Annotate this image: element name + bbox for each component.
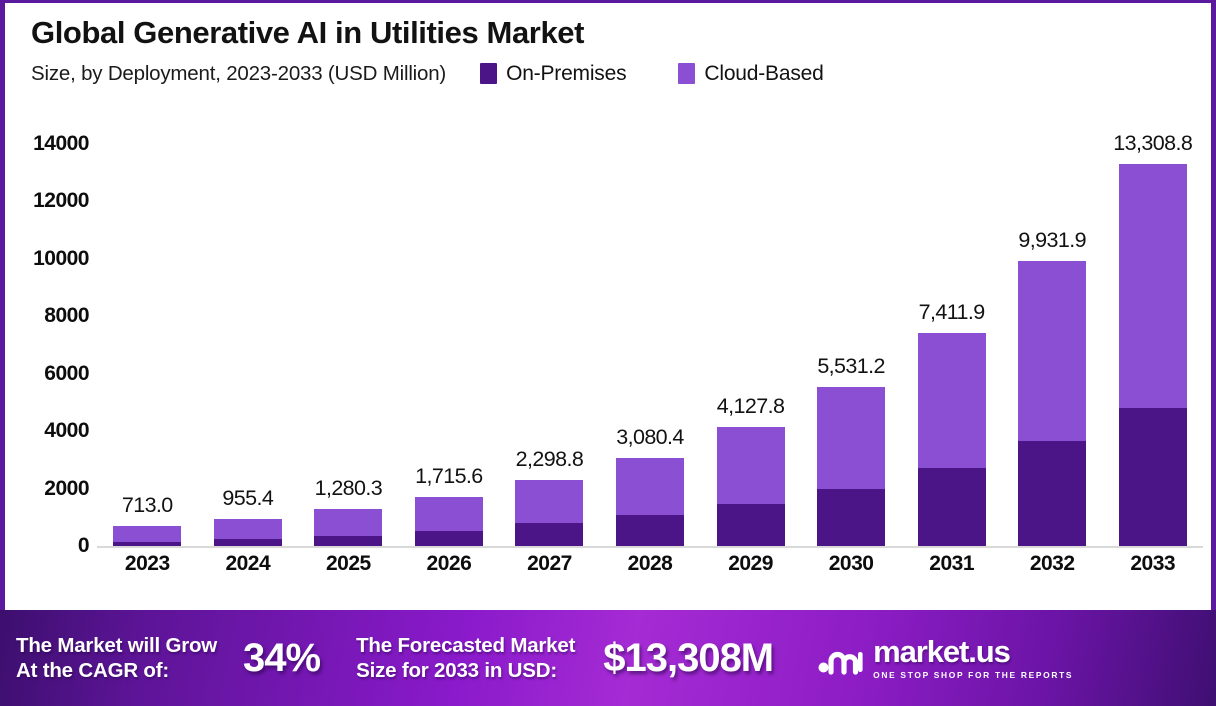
bar-stack[interactable]: 4,127.8 bbox=[717, 427, 785, 546]
bar-segment-cloud-based[interactable] bbox=[113, 526, 181, 542]
bar-column[interactable]: 955.4 bbox=[198, 108, 299, 546]
x-axis-baseline bbox=[97, 546, 1203, 548]
forecast-caption: The Forecasted Market Size for 2033 in U… bbox=[356, 633, 575, 683]
bar-segment-on-premises[interactable] bbox=[314, 536, 382, 546]
legend-item-cloud-based[interactable]: Cloud-Based bbox=[678, 62, 823, 86]
bar-segment-cloud-based[interactable] bbox=[415, 497, 483, 531]
forecast-block: The Forecasted Market Size for 2033 in U… bbox=[356, 633, 773, 683]
bar-segment-cloud-based[interactable] bbox=[214, 519, 282, 540]
y-axis-tick-label: 12000 bbox=[33, 189, 89, 213]
bar-stack[interactable]: 7,411.9 bbox=[918, 333, 986, 546]
cagr-caption-line2: At the CAGR of: bbox=[16, 658, 217, 683]
bar-segment-on-premises[interactable] bbox=[1018, 441, 1086, 546]
legend-label-cloud-based: Cloud-Based bbox=[704, 62, 823, 86]
bar-segment-cloud-based[interactable] bbox=[1018, 261, 1086, 442]
x-axis-tick-label: 2033 bbox=[1102, 552, 1203, 592]
bar-stack[interactable]: 13,308.8 bbox=[1119, 164, 1187, 546]
cagr-caption: The Market will Grow At the CAGR of: bbox=[16, 633, 217, 683]
bar-total-label: 1,715.6 bbox=[415, 464, 483, 489]
bar-segment-cloud-based[interactable] bbox=[314, 509, 382, 535]
bar-segment-on-premises[interactable] bbox=[918, 468, 986, 546]
bar-segment-on-premises[interactable] bbox=[214, 539, 282, 546]
bar-column[interactable]: 2,298.8 bbox=[499, 108, 600, 546]
bar-total-label: 13,308.8 bbox=[1113, 131, 1192, 156]
market-us-logo[interactable]: market.us ONE STOP SHOP FOR THE REPORTS bbox=[817, 636, 1073, 680]
legend-item-on-premises[interactable]: On-Premises bbox=[480, 62, 626, 86]
cagr-value: 34% bbox=[243, 636, 320, 681]
bar-series-group: 713.0955.41,280.31,715.62,298.83,080.44,… bbox=[97, 108, 1203, 546]
forecast-value: $13,308M bbox=[603, 636, 773, 681]
bar-total-label: 713.0 bbox=[122, 493, 173, 518]
legend-swatch-icon bbox=[480, 63, 497, 84]
bar-segment-on-premises[interactable] bbox=[717, 504, 785, 546]
bar-total-label: 955.4 bbox=[222, 486, 273, 511]
subtitle-legend-row: Size, by Deployment, 2023-2033 (USD Mill… bbox=[31, 59, 1211, 89]
cagr-block: The Market will Grow At the CAGR of: 34% bbox=[16, 633, 320, 683]
bar-total-label: 4,127.8 bbox=[717, 394, 785, 419]
bar-stack[interactable]: 2,298.8 bbox=[515, 480, 583, 546]
bar-stack[interactable]: 1,280.3 bbox=[314, 509, 382, 546]
bar-total-label: 2,298.8 bbox=[516, 447, 584, 472]
bar-segment-on-premises[interactable] bbox=[616, 515, 684, 546]
bar-segment-cloud-based[interactable] bbox=[717, 427, 785, 504]
page-title: Global Generative AI in Utilities Market bbox=[31, 15, 1211, 51]
bar-segment-on-premises[interactable] bbox=[415, 531, 483, 546]
bar-column[interactable]: 13,308.8 bbox=[1102, 108, 1203, 546]
bar-column[interactable]: 713.0 bbox=[97, 108, 198, 546]
bar-segment-cloud-based[interactable] bbox=[515, 480, 583, 523]
x-axis-tick-label: 2032 bbox=[1002, 552, 1103, 592]
forecast-caption-line1: The Forecasted Market bbox=[356, 633, 575, 658]
y-axis-tick-label: 8000 bbox=[44, 304, 89, 328]
x-axis-tick-label: 2027 bbox=[499, 552, 600, 592]
bar-column[interactable]: 7,411.9 bbox=[901, 108, 1002, 546]
y-axis: 02000400060008000100001200014000 bbox=[5, 108, 97, 548]
bar-column[interactable]: 1,280.3 bbox=[298, 108, 399, 546]
market-us-logo-text: market.us ONE STOP SHOP FOR THE REPORTS bbox=[873, 636, 1073, 680]
legend-swatch-icon bbox=[678, 63, 695, 84]
bar-column[interactable]: 9,931.9 bbox=[1002, 108, 1103, 546]
bar-total-label: 7,411.9 bbox=[919, 300, 985, 325]
infographic-root: Global Generative AI in Utilities Market… bbox=[0, 0, 1216, 706]
cagr-caption-line1: The Market will Grow bbox=[16, 633, 217, 658]
y-axis-tick-label: 0 bbox=[78, 534, 89, 558]
bar-segment-on-premises[interactable] bbox=[515, 523, 583, 546]
bar-segment-cloud-based[interactable] bbox=[616, 458, 684, 516]
bar-column[interactable]: 1,715.6 bbox=[399, 108, 500, 546]
bar-stack[interactable]: 5,531.2 bbox=[817, 387, 885, 546]
bar-segment-on-premises[interactable] bbox=[817, 489, 885, 546]
x-axis-tick-label: 2025 bbox=[298, 552, 399, 592]
chart-header: Global Generative AI in Utilities Market… bbox=[5, 3, 1211, 89]
bar-column[interactable]: 4,127.8 bbox=[700, 108, 801, 546]
bar-segment-cloud-based[interactable] bbox=[817, 387, 885, 489]
y-axis-tick-label: 4000 bbox=[44, 419, 89, 443]
bar-total-label: 5,531.2 bbox=[817, 354, 885, 379]
y-axis-tick-label: 10000 bbox=[33, 247, 89, 271]
market-us-logo-icon bbox=[817, 639, 863, 677]
bar-total-label: 9,931.9 bbox=[1018, 228, 1086, 253]
logo-tagline: ONE STOP SHOP FOR THE REPORTS bbox=[873, 670, 1073, 680]
bar-stack[interactable]: 955.4 bbox=[214, 519, 282, 546]
bar-stack[interactable]: 3,080.4 bbox=[616, 458, 684, 546]
bar-total-label: 3,080.4 bbox=[616, 425, 684, 450]
x-axis: 2023202420252026202720282029203020312032… bbox=[97, 552, 1203, 592]
bar-total-label: 1,280.3 bbox=[315, 476, 383, 501]
logo-wordmark: market.us bbox=[873, 636, 1073, 667]
bar-column[interactable]: 5,531.2 bbox=[801, 108, 902, 546]
bar-column[interactable]: 3,080.4 bbox=[600, 108, 701, 546]
forecast-caption-line2: Size for 2033 in USD: bbox=[356, 658, 575, 683]
bar-stack[interactable]: 9,931.9 bbox=[1018, 261, 1086, 546]
x-axis-tick-label: 2030 bbox=[801, 552, 902, 592]
bar-segment-cloud-based[interactable] bbox=[1119, 164, 1187, 408]
bar-stack[interactable]: 713.0 bbox=[113, 526, 181, 546]
y-axis-tick-label: 6000 bbox=[44, 362, 89, 386]
legend-label-on-premises: On-Premises bbox=[506, 62, 626, 86]
bar-stack[interactable]: 1,715.6 bbox=[415, 497, 483, 546]
chart-legend: On-Premises Cloud-Based bbox=[480, 62, 876, 86]
bar-segment-cloud-based[interactable] bbox=[918, 333, 986, 468]
x-axis-tick-label: 2028 bbox=[600, 552, 701, 592]
summary-banner: The Market will Grow At the CAGR of: 34%… bbox=[0, 610, 1216, 706]
x-axis-tick-label: 2026 bbox=[399, 552, 500, 592]
bar-segment-on-premises[interactable] bbox=[1119, 408, 1187, 546]
y-axis-tick-label: 14000 bbox=[33, 132, 89, 156]
x-axis-tick-label: 2031 bbox=[901, 552, 1002, 592]
x-axis-tick-label: 2029 bbox=[700, 552, 801, 592]
x-axis-tick-label: 2024 bbox=[198, 552, 299, 592]
x-axis-tick-label: 2023 bbox=[97, 552, 198, 592]
chart-plot-area: 02000400060008000100001200014000 713.095… bbox=[5, 108, 1211, 608]
bars-container: 713.0955.41,280.31,715.62,298.83,080.44,… bbox=[97, 108, 1203, 548]
y-axis-tick-label: 2000 bbox=[44, 477, 89, 501]
chart-subtitle: Size, by Deployment, 2023-2033 (USD Mill… bbox=[31, 62, 446, 86]
